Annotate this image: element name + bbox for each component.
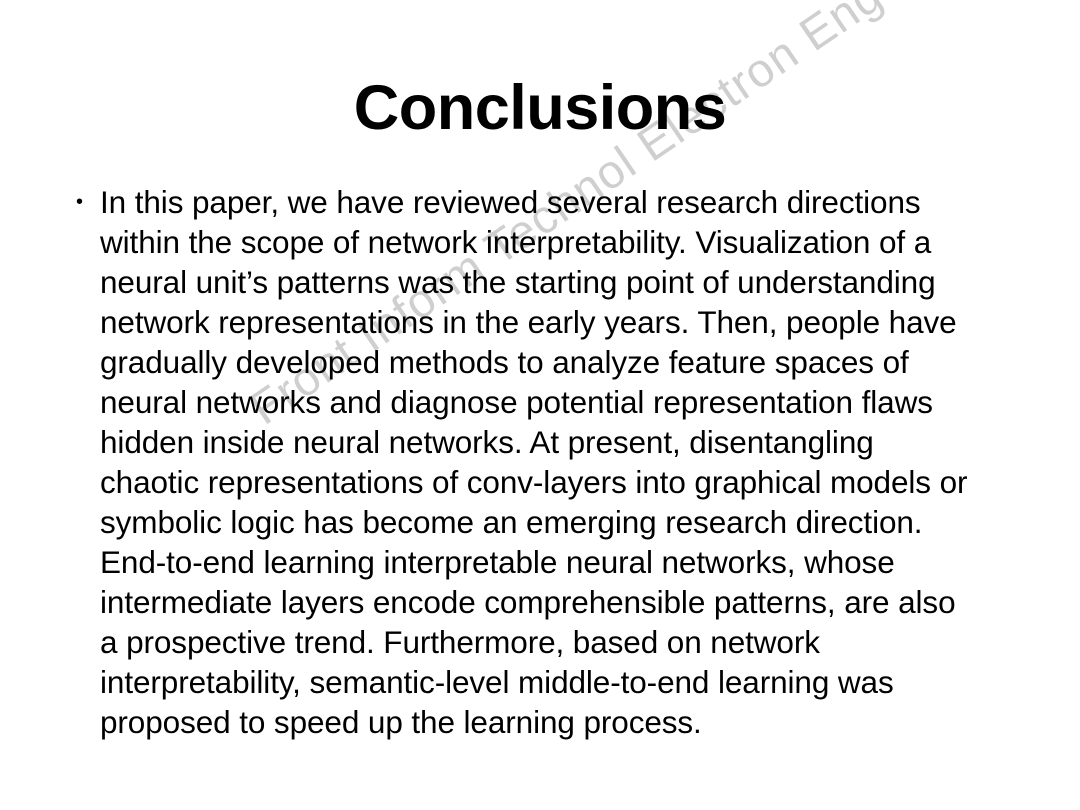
bullet-list: • In this paper, we have reviewed severa… <box>74 182 1042 742</box>
body-line: network representations in the early yea… <box>100 302 1042 342</box>
body-line: symbolic logic has become an emerging re… <box>100 502 1042 542</box>
presentation-slide: Front Inform Technol Electron Eng Conclu… <box>0 0 1080 810</box>
body-line: chaotic representations of conv-layers i… <box>100 462 1042 502</box>
body-line: neural networks and diagnose potential r… <box>100 382 1042 422</box>
body-line: intermediate layers encode comprehensibl… <box>100 582 1042 622</box>
body-line: neural unit’s patterns was the starting … <box>100 262 1042 302</box>
body-line: In this paper, we have reviewed several … <box>100 182 1042 222</box>
bullet-point-icon: • <box>74 182 100 222</box>
page-title: Conclusions <box>0 74 1080 142</box>
body-line: hidden inside neural networks. At presen… <box>100 422 1042 462</box>
body-line: interpretability, semantic-level middle-… <box>100 662 1042 702</box>
body-line: proposed to speed up the learning proces… <box>100 702 1042 742</box>
body-line: within the scope of network interpretabi… <box>100 222 1042 262</box>
body-line: End-to-end learning interpretable neural… <box>100 542 1042 582</box>
list-item: • In this paper, we have reviewed severa… <box>74 182 1042 742</box>
bullet-text-block: In this paper, we have reviewed several … <box>100 182 1042 742</box>
body-line: gradually developed methods to analyze f… <box>100 342 1042 382</box>
body-line: a prospective trend. Furthermore, based … <box>100 622 1042 662</box>
